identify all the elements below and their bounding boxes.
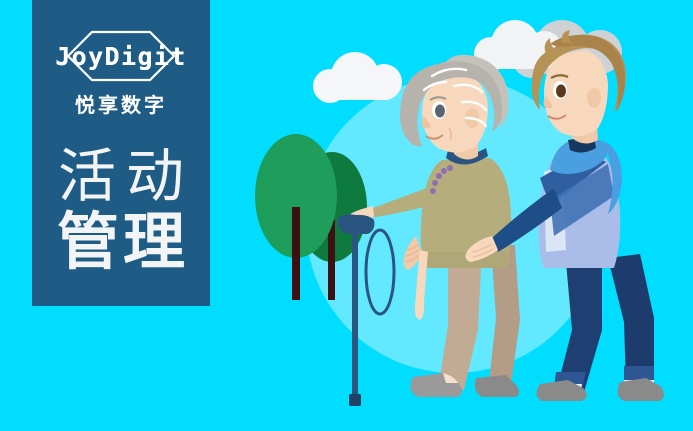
cane-shaft — [352, 228, 358, 400]
poster-headline: 活动 管理 — [48, 148, 194, 274]
cane-handle — [338, 214, 375, 234]
cane-tip — [349, 394, 361, 406]
man-pupil — [556, 85, 566, 98]
brand-wordmark: JoyDigit — [55, 42, 187, 71]
elderly-sweater — [421, 158, 512, 268]
poster-canvas: JoyDigit 悦享数字 活动 管理 — [0, 0, 693, 431]
illustration-artwork — [210, 0, 693, 431]
brand-subtitle: 悦享数字 — [75, 89, 167, 118]
title-panel: JoyDigit 悦享数字 活动 管理 — [32, 0, 210, 306]
headline-line-1: 活动 — [48, 148, 194, 206]
brand-logo: JoyDigit — [51, 30, 191, 82]
man-ear — [587, 88, 601, 108]
headline-line-2: 管理 — [53, 212, 189, 274]
elderly-pupil — [435, 105, 445, 118]
